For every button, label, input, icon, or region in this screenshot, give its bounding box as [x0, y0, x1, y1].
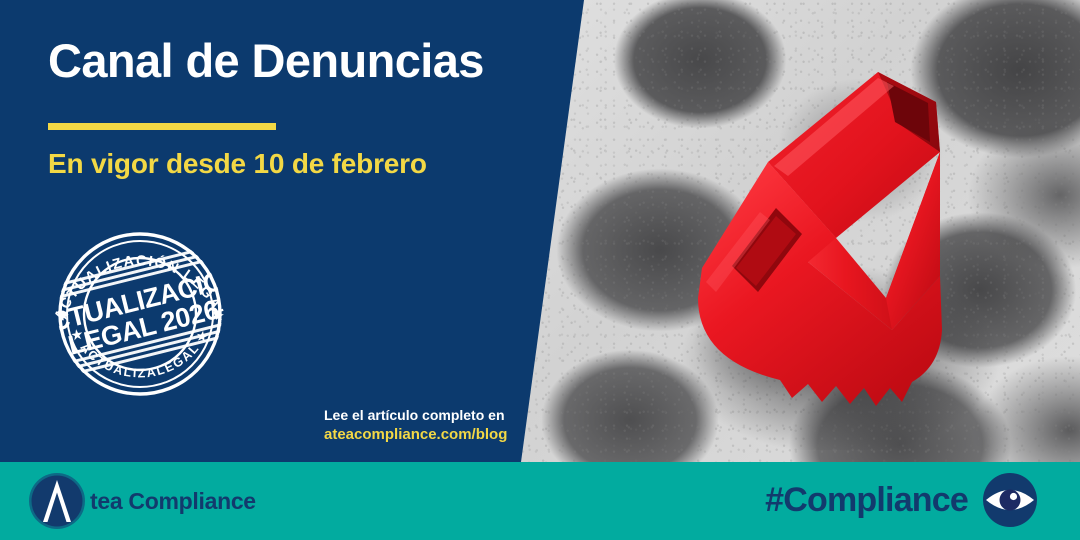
cta-line-1: Lee el artículo completo en — [324, 405, 539, 425]
page-subtitle: En vigor desde 10 de febrero — [48, 148, 427, 180]
stamp-badge: ACTUALIZACIÓN LEGAL ★ ACTUALIZALEGAL ★ ★… — [32, 222, 248, 402]
brand-logo[interactable]: tea Compliance — [28, 472, 256, 530]
hashtag-text: #Compliance — [765, 481, 968, 520]
footer-bar: tea Compliance #Compliance — [0, 462, 1080, 540]
cta-block[interactable]: Lee el artículo completo en ateacomplian… — [324, 405, 539, 445]
red-whistle-image — [640, 30, 1060, 450]
eye-icon — [982, 472, 1038, 528]
cta-url-link[interactable]: ateacompliance.com/blog — [324, 425, 539, 445]
hashtag-block: #Compliance — [765, 472, 1038, 528]
atea-logo-icon — [28, 472, 86, 530]
brand-logo-text: tea Compliance — [90, 488, 256, 515]
accent-rule — [48, 123, 276, 130]
page-title: Canal de Denuncias — [48, 33, 484, 88]
promo-banner: Canal de Denuncias En vigor desde 10 de … — [0, 0, 1080, 540]
